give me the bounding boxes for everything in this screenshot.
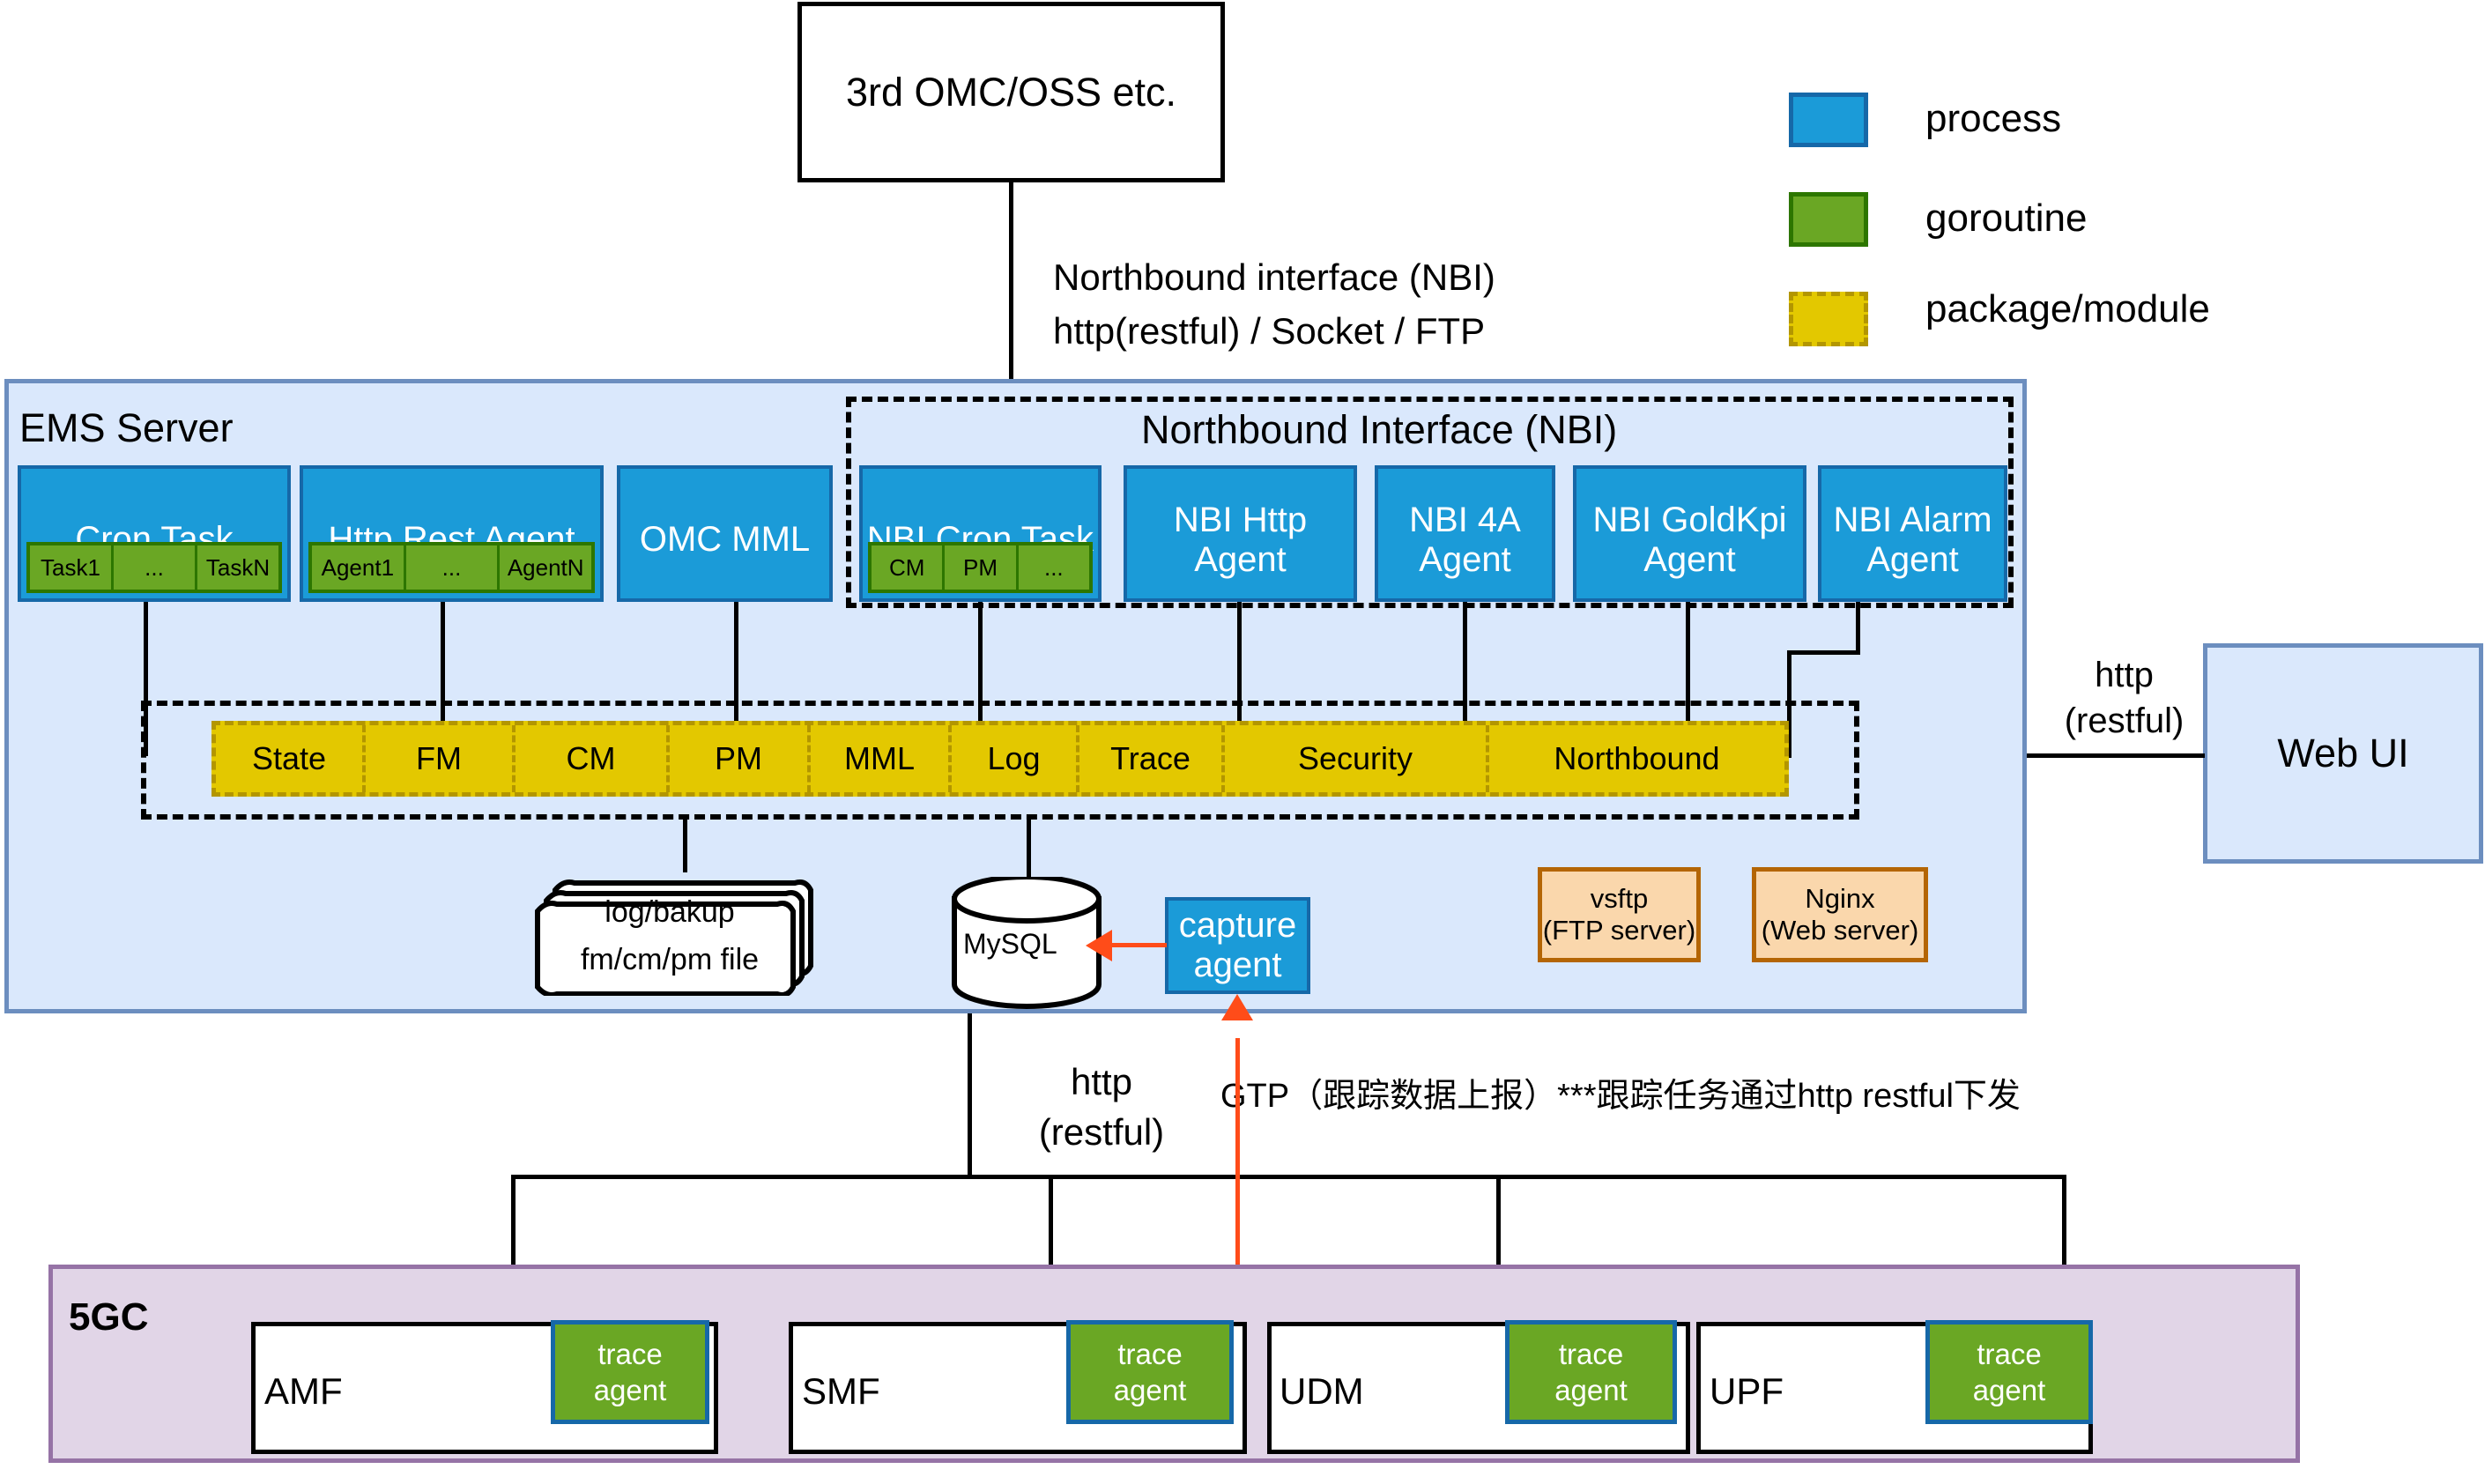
process-nbi-alarm-agent-label: NBI Alarm Agent [1821,501,2004,580]
server-vsftp-line2: (FTP server) [1543,915,1695,946]
trace-agent-smf[interactable]: trace agent [1066,1320,1234,1424]
process-nbi-goldkpi-agent-label: NBI GoldKpi Agent [1576,501,1803,580]
server-vsftp[interactable]: vsftp (FTP server) [1538,867,1701,962]
trace-agent-udm[interactable]: trace agent [1505,1320,1677,1424]
nbi-group-title: Northbound Interface (NBI) [1141,407,1617,453]
external-oss-label: 3rd OMC/OSS etc. [846,70,1176,115]
ems-server-title: EMS Server [19,405,234,451]
trace-agent-smf-line1: trace [1117,1336,1182,1372]
module-bar: State FM CM PM MML Log Trace Security No… [211,721,1789,797]
goroutine-cell: Agent1 [312,545,406,590]
file-stack-line1: log/bakup [546,888,793,936]
trace-agent-amf[interactable]: trace agent [551,1320,709,1424]
goroutine-cell: TaskN [197,545,278,590]
southbound-http-line2: (restful) [1013,1108,1190,1158]
legend-label-goroutine: goroutine [1925,197,2087,241]
capture-to-mysql-line [1112,943,1167,947]
capture-agent-line2: agent [1168,946,1307,985]
ems-webui-connector [2027,753,2205,758]
database-label: MySQL [963,928,1057,961]
goroutine-strip-cron-task: Task1 ... TaskN [26,542,282,593]
oss-nbi-connector [1009,182,1013,398]
module-pm[interactable]: PM [670,725,811,792]
goroutine-cell: ... [406,545,501,590]
goroutine-cell: ... [114,545,197,590]
goroutine-strip-nbi-cron-task: CM PM ... [868,542,1093,593]
nf-upf-label: UPF [1710,1370,1784,1413]
connector-nbi-alarm-agent-seg2 [1787,650,1860,655]
web-ui-box[interactable]: Web UI [2203,643,2483,864]
server-nginx-line1: Nginx [1805,883,1874,915]
process-omc-mml-label: OMC MML [620,520,829,560]
goroutine-strip-http-rest-agent: Agent1 ... AgentN [308,542,595,593]
connector-nbi-alarm-agent-seg1 [1856,602,1860,650]
web-ui-link-label: http (restful) [2047,652,2201,744]
legend-swatch-process [1789,93,1868,147]
legend-swatch-package [1789,292,1868,346]
web-ui-label: Web UI [2277,731,2408,776]
module-trace[interactable]: Trace [1079,725,1225,792]
goroutine-cell: CM [872,545,945,590]
southbound-http-line1: http [1013,1057,1190,1108]
module-fm[interactable]: FM [366,725,516,792]
external-oss-box: 3rd OMC/OSS etc. [797,2,1225,182]
module-northbound[interactable]: Northbound [1489,725,1784,792]
module-cm[interactable]: CM [516,725,670,792]
fivegc-title: 5GC [69,1295,148,1339]
trace-agent-amf-line1: trace [597,1336,662,1372]
nbi-interface-label: Northbound interface (NBI) http(restful)… [1053,251,1495,359]
goroutine-cell: ... [1019,545,1089,590]
web-ui-link-line2: (restful) [2047,698,2201,744]
nf-smf-label: SMF [802,1370,880,1413]
goroutine-cell: Task1 [30,545,114,590]
southbound-http-label: http (restful) [1013,1057,1190,1157]
legend-label-process: process [1925,97,2061,141]
southbound-trunk [968,1013,972,1176]
southbound-bus [511,1175,2066,1179]
nbi-interface-label-line2: http(restful) / Socket / FTP [1053,305,1495,359]
capture-agent-line1: capture [1168,906,1307,946]
process-omc-mml[interactable]: OMC MML [617,465,833,602]
module-mml[interactable]: MML [811,725,952,792]
trace-agent-amf-line2: agent [594,1372,667,1408]
process-nbi-http-agent[interactable]: NBI Http Agent [1124,465,1357,602]
module-log[interactable]: Log [952,725,1079,792]
module-security[interactable]: Security [1225,725,1489,792]
process-capture-agent[interactable]: capture agent [1165,897,1310,994]
trace-agent-smf-line2: agent [1114,1372,1187,1408]
gtp-annotation: GTP（跟踪数据上报）***跟踪任务通过http restful下发 [1220,1068,2021,1117]
file-stack-line2: fm/cm/pm file [546,936,793,983]
server-nginx[interactable]: Nginx (Web server) [1752,867,1928,962]
web-ui-link-line1: http [2047,652,2201,698]
connector-modules-mysql [1027,820,1031,879]
architecture-diagram: 3rd OMC/OSS etc. Northbound interface (N… [0,0,2485,1484]
goroutine-cell: AgentN [500,545,591,590]
trace-agent-udm-line1: trace [1559,1336,1623,1372]
process-nbi-4a-agent[interactable]: NBI 4A Agent [1375,465,1555,602]
process-nbi-http-agent-label: NBI Http Agent [1127,501,1354,580]
nf-amf-label: AMF [264,1370,343,1413]
trace-agent-upf-line1: trace [1977,1336,2041,1372]
legend-label-package: package/module [1925,287,2210,331]
gtp-trunk-arrowhead [1221,994,1253,1020]
process-nbi-4a-agent-label: NBI 4A Agent [1378,501,1552,580]
nbi-interface-label-line1: Northbound interface (NBI) [1053,251,1495,305]
goroutine-cell: PM [945,545,1018,590]
file-stack-label: log/bakup fm/cm/pm file [546,888,793,984]
capture-to-mysql-arrowhead [1086,930,1112,961]
server-nginx-line2: (Web server) [1762,915,1919,946]
process-nbi-alarm-agent[interactable]: NBI Alarm Agent [1818,465,2007,602]
trace-agent-udm-line2: agent [1554,1372,1628,1408]
legend-swatch-goroutine [1789,192,1868,247]
trace-agent-upf[interactable]: trace agent [1925,1320,2093,1424]
module-state[interactable]: State [216,725,366,792]
process-nbi-goldkpi-agent[interactable]: NBI GoldKpi Agent [1573,465,1806,602]
nf-udm-label: UDM [1280,1370,1364,1413]
server-vsftp-line1: vsftp [1591,883,1648,915]
trace-agent-upf-line2: agent [1973,1372,2046,1408]
